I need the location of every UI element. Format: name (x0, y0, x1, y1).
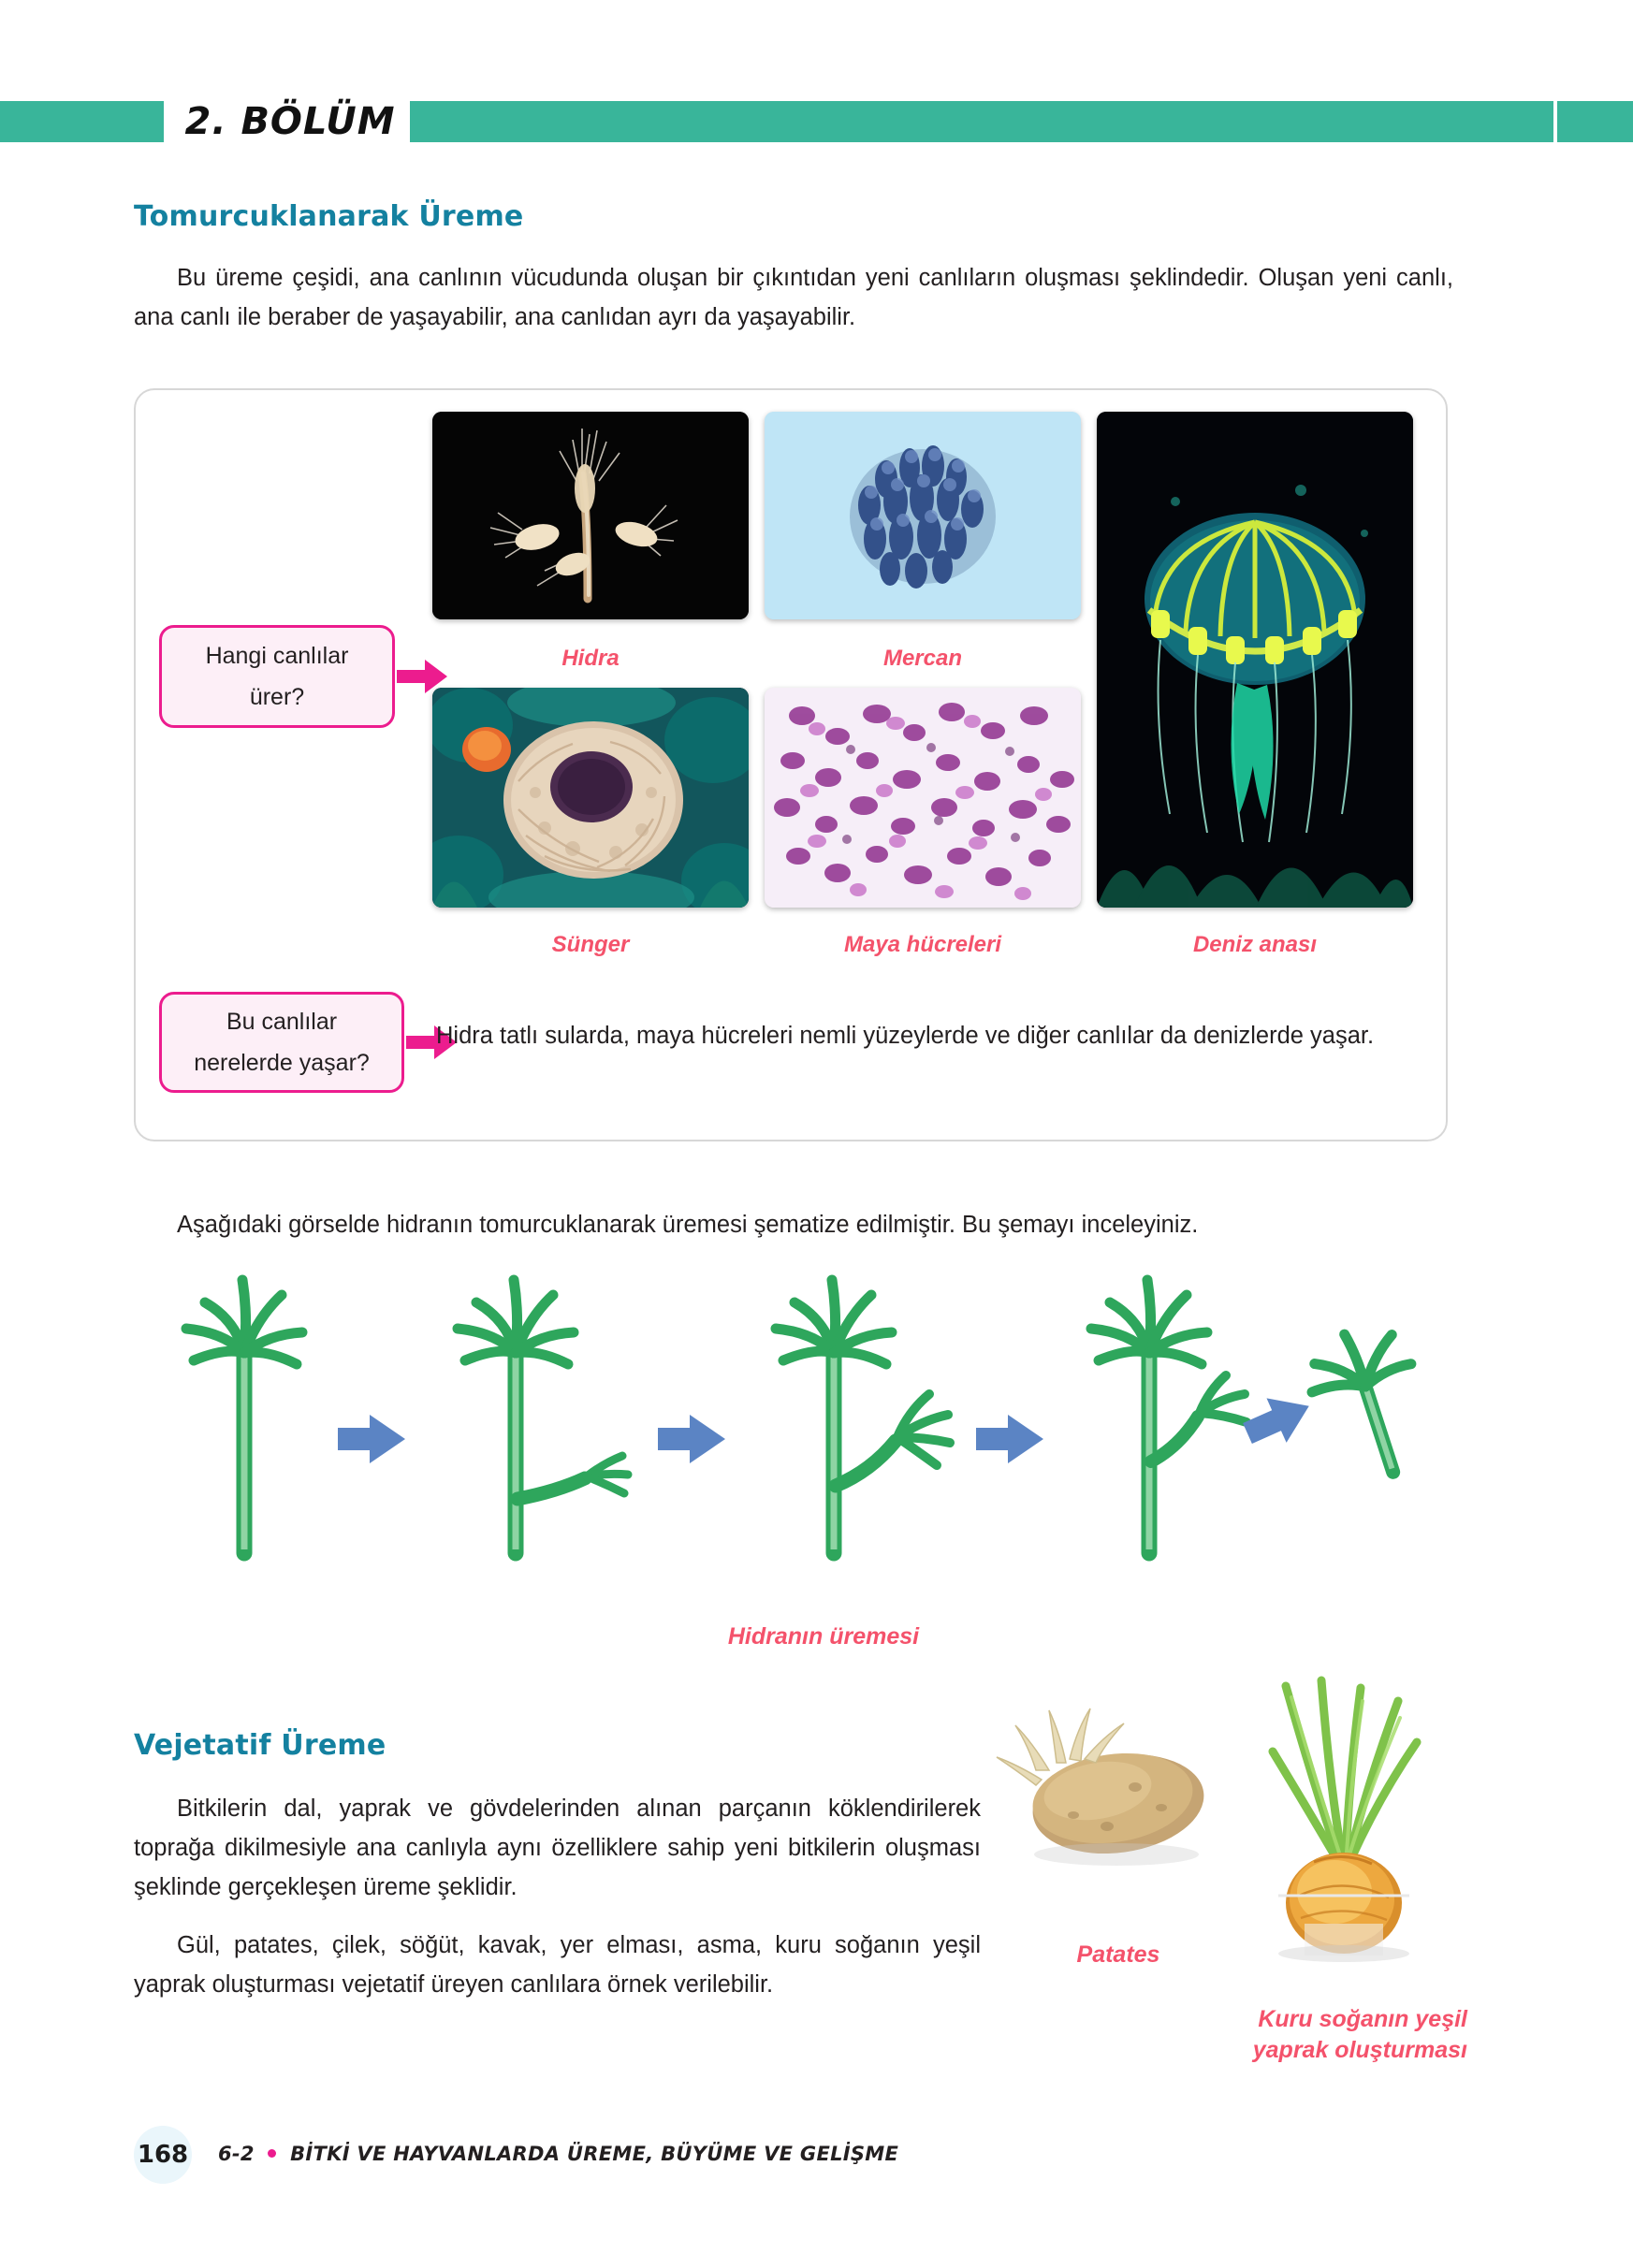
caption-patates: Patates (1034, 1941, 1203, 1969)
caption-hidra: Hidra (432, 646, 749, 672)
question-1-line-2: ürer? (250, 676, 304, 718)
question-2-line-2: nerelerde yaşar? (194, 1042, 370, 1083)
image-patates (995, 1684, 1229, 1881)
paragraph-schema-intro: Aşağıdaki görselde hidranın tomurcuklana… (134, 1205, 1453, 1244)
answer-text-nerelerde-yasar: Hidra tatlı sularda, maya hücreleri neml… (436, 1014, 1400, 1057)
question-bubble-hangi-canlilar: Hangi canlılar ürer? (159, 625, 395, 728)
question-2-line-1: Bu canlılar (226, 1001, 337, 1042)
photo-card-hidra (432, 412, 749, 619)
caption-hidranin-uremesi: Hidranın üremesi (561, 1623, 1086, 1650)
footer-unit-label: 6-2 BİTKİ VE HAYVANLARDA ÜREME, BÜYÜME V… (218, 2143, 898, 2165)
header-bar-right-tip (1557, 101, 1633, 142)
footer-unit-title: BİTKİ VE HAYVANLARDA ÜREME, BÜYÜME VE GE… (290, 2143, 898, 2165)
caption-mercan: Mercan (765, 646, 1081, 672)
paragraph-vejetatif-1: Bitkilerin dal, yaprak ve gövdelerinden … (134, 1789, 981, 1907)
chapter-label: 2. BÖLÜM (178, 94, 402, 150)
photo-card-maya-hucreleri (765, 688, 1081, 908)
textbook-page: 2. BÖLÜM Tomurcuklanarak Üreme Bu üreme … (0, 0, 1633, 2268)
photo-card-deniz-anasi (1097, 412, 1413, 908)
caption-maya-hucreleri: Maya hücreleri (765, 932, 1081, 958)
page-number: 168 (134, 2126, 192, 2184)
paragraph-vejetatif-2: Gül, patates, çilek, söğüt, kavak, yer e… (134, 1926, 981, 2004)
chapter-header: 2. BÖLÜM (0, 101, 1633, 142)
caption-sunger: Sünger (432, 932, 749, 958)
image-kuru-sogan (1224, 1673, 1458, 1963)
photo-card-mercan (765, 412, 1081, 619)
footer-separator-dot (268, 2149, 276, 2158)
hydra-reproduction-schema (134, 1263, 1448, 1609)
section-title-vejetatif: Vejetatif Üreme (134, 1729, 386, 1762)
section-title-tomurcuklanarak: Tomurcuklanarak Üreme (134, 200, 523, 233)
header-bar-left (0, 101, 164, 142)
photo-card-sunger (432, 688, 749, 908)
footer-unit-code: 6-2 (218, 2143, 255, 2165)
caption-kuru-sogan: Kuru soğanın yeşil yaprak oluşturması (1187, 2004, 1467, 2066)
question-bubble-nerelerde-yasar: Bu canlılar nerelerde yaşar? (159, 992, 404, 1093)
page-footer: 168 6-2 BİTKİ VE HAYVANLARDA ÜREME, BÜYÜ… (134, 2126, 1163, 2182)
header-bar-right (410, 101, 1553, 142)
question-1-line-1: Hangi canlılar (206, 635, 349, 676)
caption-deniz-anasi: Deniz anası (1097, 932, 1413, 958)
paragraph-tomurcuklanarak: Bu üreme çeşidi, ana canlının vücudunda … (134, 258, 1453, 337)
